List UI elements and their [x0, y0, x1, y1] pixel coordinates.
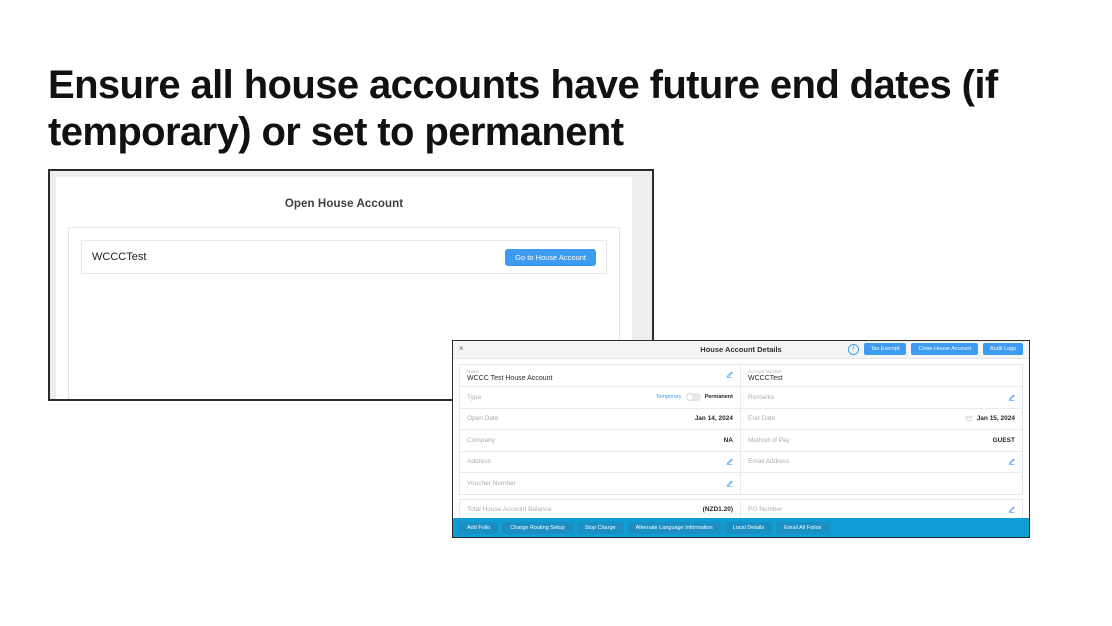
charge-routing-setup-button[interactable]: Charge Routing Setup — [502, 522, 572, 534]
email-all-folios-button[interactable]: Email All Folios — [776, 522, 829, 534]
dialog-body: Name WCCC Test House Account Account Num… — [453, 359, 1029, 521]
stop-charge-button[interactable]: Stop Charge — [577, 522, 624, 534]
dialog-footer: Add Folio Charge Routing Setup Stop Char… — [453, 518, 1029, 537]
field-voucher-number-label: Voucher Number — [467, 480, 726, 487]
field-blank — [741, 473, 1022, 494]
add-folio-button[interactable]: Add Folio — [459, 522, 498, 534]
alternate-language-information-button[interactable]: Alternate Language Information — [628, 522, 721, 534]
edit-icon[interactable] — [1008, 458, 1015, 465]
form-row-company: Company NA Method of Pay GUEST — [460, 430, 1022, 452]
type-toggle-group[interactable]: Temporary Permanent — [656, 393, 733, 401]
field-type-label: Type — [467, 394, 656, 401]
field-email-address[interactable]: Email Address — [741, 452, 1022, 473]
local-details-button[interactable]: Local Details — [725, 522, 773, 534]
field-address-label: Address — [467, 458, 726, 465]
field-po-number-label: PO Number — [748, 506, 1008, 513]
field-name[interactable]: Name WCCC Test House Account — [460, 365, 741, 386]
house-account-name: WCCCTest — [92, 251, 505, 263]
form-row-voucher: Voucher Number — [460, 473, 1022, 495]
tax-exempt-button[interactable]: Tax Exempt — [864, 343, 907, 355]
edit-icon[interactable] — [726, 458, 733, 465]
field-open-date-value: Jan 14, 2024 — [695, 415, 733, 422]
field-remarks[interactable]: Remarks — [741, 387, 1022, 408]
info-icon[interactable]: i — [848, 344, 859, 355]
toggle-label-permanent[interactable]: Permanent — [705, 394, 733, 400]
form-row-dates: Open Date Jan 14, 2024 End Date Jan 15, … — [460, 409, 1022, 431]
field-method-of-pay[interactable]: Method of Pay GUEST — [741, 430, 1022, 451]
form-row-type: Type Temporary Permanent Remarks — [460, 387, 1022, 409]
form-row-name: Name WCCC Test House Account Account Num… — [460, 365, 1022, 387]
close-house-account-button[interactable]: Close House Account — [911, 343, 978, 355]
field-end-date-value: Jan 15, 2024 — [977, 415, 1015, 422]
field-company-label: Company — [467, 437, 724, 444]
field-open-date-label: Open Date — [467, 415, 695, 422]
field-company-value: NA — [724, 437, 733, 444]
field-voucher-number[interactable]: Voucher Number — [460, 473, 741, 494]
toggle-knob — [687, 394, 693, 400]
field-company[interactable]: Company NA — [460, 430, 741, 451]
field-method-of-pay-value: GUEST — [993, 437, 1015, 444]
temporary-permanent-toggle[interactable] — [686, 393, 701, 401]
field-method-of-pay-label: Method of Pay — [748, 437, 993, 444]
page-title: Ensure all house accounts have future en… — [48, 62, 1068, 156]
field-account-number[interactable]: Account Number WCCCTest — [741, 365, 1022, 386]
open-house-account-title: Open House Account — [56, 177, 632, 210]
field-total-balance-value: (NZD1.20) — [703, 506, 733, 513]
field-name-value: WCCC Test House Account — [467, 375, 552, 383]
edit-icon[interactable] — [726, 480, 733, 487]
field-email-address-label: Email Address — [748, 458, 1008, 465]
form-row-balance: Total House Account Balance (NZD1.20) PO… — [460, 500, 1022, 521]
house-account-details-dialog: × House Account Details i Tax Exempt Clo… — [452, 340, 1030, 538]
field-address[interactable]: Address — [460, 452, 741, 473]
field-account-number-value: WCCCTest — [748, 375, 783, 383]
audit-logs-button[interactable]: Audit Logs — [983, 343, 1023, 355]
field-po-number[interactable]: PO Number — [741, 500, 1022, 521]
go-to-house-account-button[interactable]: Go to House Account — [505, 249, 596, 266]
house-account-row[interactable]: WCCCTest Go to House Account — [81, 240, 607, 274]
field-open-date[interactable]: Open Date Jan 14, 2024 — [460, 409, 741, 430]
toggle-label-temporary[interactable]: Temporary — [656, 394, 682, 400]
edit-icon[interactable] — [1008, 394, 1015, 401]
field-total-balance-label: Total House Account Balance — [467, 506, 703, 513]
field-remarks-label: Remarks — [748, 394, 1008, 401]
edit-icon[interactable] — [726, 371, 733, 378]
dialog-header: × House Account Details i Tax Exempt Clo… — [453, 341, 1029, 359]
calendar-icon[interactable] — [966, 415, 972, 423]
field-end-date[interactable]: End Date Jan 15, 2024 — [741, 409, 1022, 430]
form-row-address: Address Email Address — [460, 452, 1022, 474]
field-total-balance[interactable]: Total House Account Balance (NZD1.20) — [460, 500, 741, 521]
field-end-date-label: End Date — [748, 415, 966, 422]
field-type[interactable]: Type Temporary Permanent — [460, 387, 741, 408]
dialog-header-actions: i Tax Exempt Close House Account Audit L… — [848, 343, 1023, 355]
edit-icon[interactable] — [1008, 506, 1015, 513]
details-grid: Name WCCC Test House Account Account Num… — [459, 364, 1023, 495]
